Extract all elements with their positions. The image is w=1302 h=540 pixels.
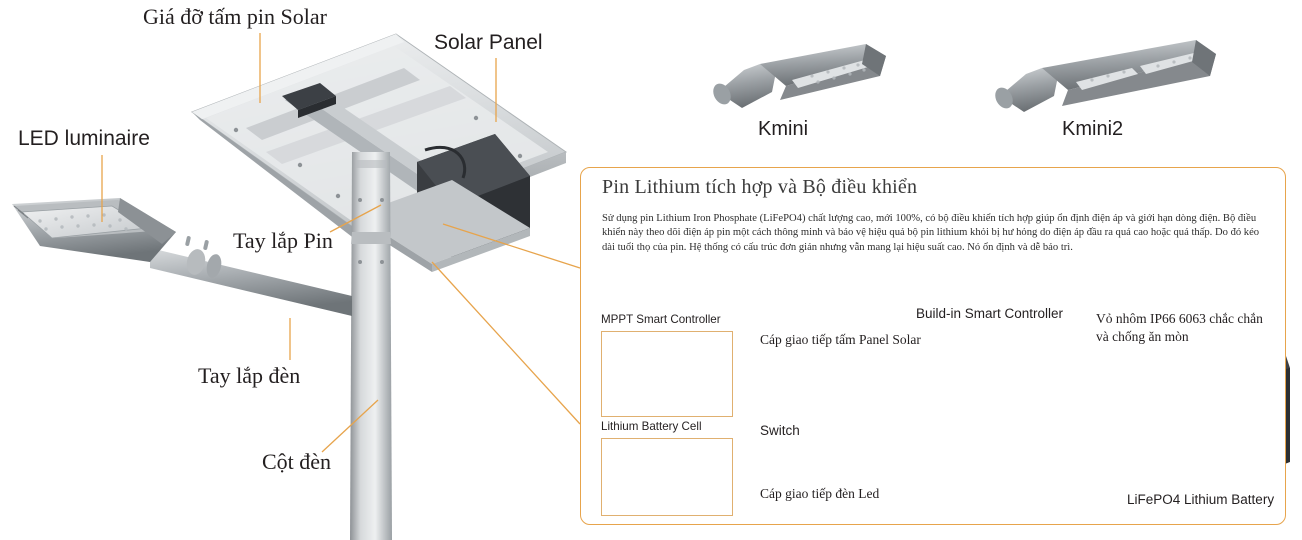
- panel-title: Pin Lithium tích hợp và Bộ điều khiển: [602, 176, 917, 199]
- label-battery-arm: Tay lắp Pin: [233, 228, 333, 254]
- label-lamp-arm: Tay lắp đèn: [198, 363, 300, 389]
- inset-caption-battery-cell: Lithium Battery Cell: [601, 420, 702, 433]
- product-diagram: Giá đỡ tấm pin Solar Solar Panel LED lum…: [0, 0, 1302, 540]
- callout-lifepo4-battery: LiFePO4 Lithium Battery: [1127, 492, 1274, 507]
- callout-panel-cable: Cáp giao tiếp tấm Panel Solar: [760, 332, 921, 348]
- solar-panel-art: [192, 34, 566, 243]
- leader-lines: [102, 33, 580, 452]
- kmini2-art: [992, 40, 1216, 112]
- battery-housing-art: [355, 134, 530, 272]
- label-pole: Cột đèn: [262, 449, 331, 475]
- label-solar-panel: Solar Panel: [434, 31, 543, 55]
- label-led-luminaire: LED luminaire: [18, 127, 150, 151]
- inset-box-mppt: [601, 331, 733, 417]
- callout-alu-housing-line2: và chống ăn mòn: [1096, 329, 1189, 345]
- panel-body-text: Sử dụng pin Lithium Iron Phosphate (LiFe…: [602, 212, 1274, 255]
- callout-alu-housing-line1: Vỏ nhôm IP66 6063 chắc chắn: [1096, 311, 1263, 327]
- inset-caption-mppt: MPPT Smart Controller: [601, 313, 721, 326]
- product-name-kmini2: Kmini2: [1062, 118, 1123, 141]
- label-solar-mount: Giá đỡ tấm pin Solar: [143, 4, 327, 30]
- pole-art: [350, 152, 392, 540]
- callout-switch: Switch: [760, 423, 800, 438]
- led-luminaire-art: [12, 198, 352, 316]
- product-name-kmini: Kmini: [758, 118, 808, 141]
- callout-led-cable: Cáp giao tiếp đèn Led: [760, 486, 879, 502]
- inset-box-battery-cell: [601, 438, 733, 516]
- callout-smart-controller: Build-in Smart Controller: [916, 306, 1063, 321]
- kmini-art: [710, 44, 886, 108]
